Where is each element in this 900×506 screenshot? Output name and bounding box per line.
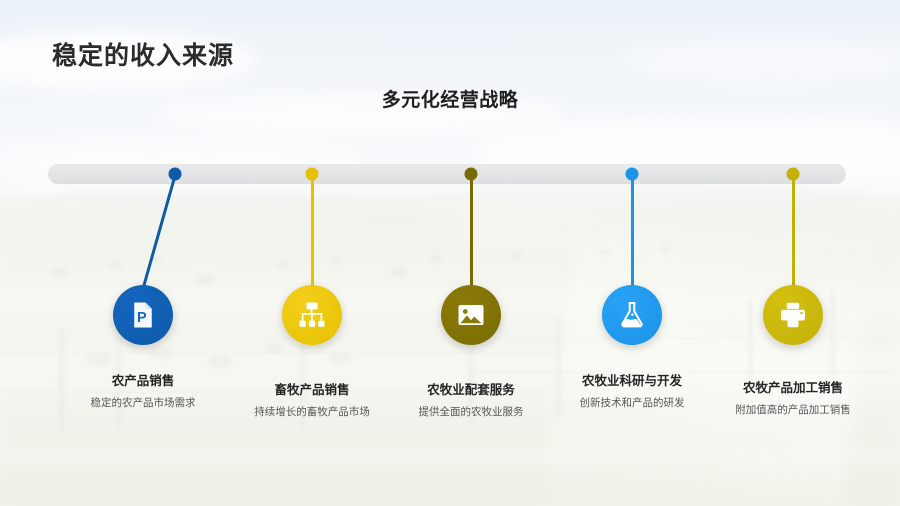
timeline-dot-agri-support-services[interactable] <box>465 168 478 181</box>
timeline-connector-livestock-product-sales <box>311 174 314 287</box>
printer-icon <box>778 300 808 330</box>
slide-canvas: 稳定的收入来源 多元化经营战略 P农产品销售稳定的农产品市场需求畜牧产品销售持续… <box>0 0 900 506</box>
timeline-icon-bubble-agri-research-development[interactable] <box>602 285 662 345</box>
timeline-desc-agri-research-development: 创新技术和产品的研发 <box>565 396 699 411</box>
timeline-desc-agri-product-sales: 稳定的农产品市场需求 <box>76 396 210 411</box>
background-overlay <box>0 0 900 506</box>
flask-icon <box>617 300 647 330</box>
timeline-desc-processed-product-sales: 附加值高的产品加工销售 <box>726 403 860 418</box>
file-presentation-icon: P <box>128 300 158 330</box>
sitemap-icon <box>297 300 327 330</box>
page-title: 稳定的收入来源 <box>52 36 234 72</box>
timeline-icon-bubble-processed-product-sales[interactable] <box>763 285 823 345</box>
timeline-dot-agri-product-sales[interactable] <box>169 168 182 181</box>
timeline-label-agri-research-development: 农牧业科研与开发 <box>557 374 707 390</box>
timeline-label-livestock-product-sales: 畜牧产品销售 <box>237 383 387 399</box>
timeline-connector-agri-research-development <box>631 174 634 287</box>
timeline-label-agri-support-services: 农牧业配套服务 <box>396 383 546 399</box>
timeline-icon-bubble-livestock-product-sales[interactable] <box>282 285 342 345</box>
timeline-desc-livestock-product-sales: 持续增长的畜牧产品市场 <box>245 405 379 420</box>
timeline-icon-bubble-agri-support-services[interactable] <box>441 285 501 345</box>
timeline-label-agri-product-sales: 农产品销售 <box>68 374 218 390</box>
timeline-connector-agri-support-services <box>470 174 473 287</box>
image-icon <box>456 300 486 330</box>
timeline-dot-processed-product-sales[interactable] <box>787 168 800 181</box>
timeline-label-processed-product-sales: 农牧产品加工销售 <box>718 381 868 397</box>
svg-text:P: P <box>137 310 147 326</box>
timeline-desc-agri-support-services: 提供全面的农牧业服务 <box>404 405 538 420</box>
timeline-dot-agri-research-development[interactable] <box>626 168 639 181</box>
page-subtitle: 多元化经营战略 <box>0 85 900 112</box>
timeline-icon-bubble-agri-product-sales[interactable]: P <box>113 285 173 345</box>
timeline-dot-livestock-product-sales[interactable] <box>306 168 319 181</box>
timeline-connector-processed-product-sales <box>792 174 795 287</box>
